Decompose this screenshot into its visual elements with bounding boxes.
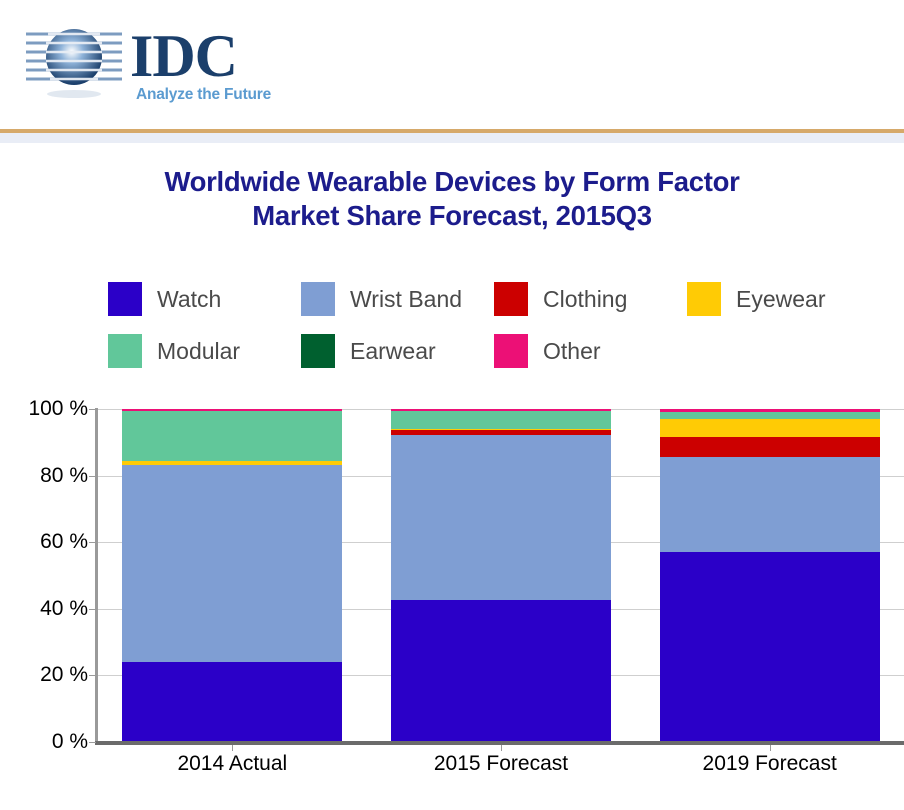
y-tick-label: 40 %	[10, 597, 88, 621]
bar-2019-forecast[interactable]	[660, 409, 880, 742]
y-axis-labels: 0 %20 %40 %60 %80 %100 %	[4, 0, 88, 810]
y-tick-label: 60 %	[10, 530, 88, 554]
x-tick-mark	[232, 745, 233, 751]
x-axis-label: 2015 Forecast	[367, 752, 636, 776]
bar-segment-watch[interactable]	[660, 552, 880, 742]
y-tick-label: 0 %	[10, 730, 88, 754]
bar-segment-eyewear[interactable]	[660, 419, 880, 437]
y-tick-mark	[89, 609, 96, 610]
x-tick-mark	[501, 745, 502, 751]
bar-segment-watch[interactable]	[391, 600, 611, 742]
bar-segment-wrist-band[interactable]	[660, 457, 880, 552]
slide-canvas: IDC Analyze the Future Worldwide Wearabl…	[0, 0, 904, 810]
y-tick-mark	[89, 476, 96, 477]
bar-segment-modular[interactable]	[391, 411, 611, 429]
y-axis-line	[95, 408, 98, 744]
y-tick-label: 20 %	[10, 663, 88, 687]
x-axis-line	[95, 741, 904, 745]
bar-segment-wrist-band[interactable]	[391, 435, 611, 601]
y-tick-mark	[89, 742, 96, 743]
bar-2015-forecast[interactable]	[391, 409, 611, 742]
bar-segment-watch[interactable]	[122, 662, 342, 742]
y-tick-mark	[89, 675, 96, 676]
y-tick-label: 100 %	[10, 397, 88, 421]
x-axis-label: 2019 Forecast	[635, 752, 904, 776]
stacked-bar-chart: 0 %20 %40 %60 %80 %100 % 2014 Actual2015…	[0, 0, 904, 810]
y-tick-mark	[89, 542, 96, 543]
plot-area	[98, 409, 904, 742]
x-tick-mark	[770, 745, 771, 751]
y-tick-label: 80 %	[10, 464, 88, 488]
x-axis-label: 2014 Actual	[98, 752, 367, 776]
y-tick-mark	[89, 409, 96, 410]
bar-segment-modular[interactable]	[660, 412, 880, 419]
bar-segment-wrist-band[interactable]	[122, 465, 342, 662]
bar-segment-clothing[interactable]	[660, 437, 880, 457]
bar-segment-modular[interactable]	[122, 411, 342, 461]
bar-2014-actual[interactable]	[122, 409, 342, 742]
